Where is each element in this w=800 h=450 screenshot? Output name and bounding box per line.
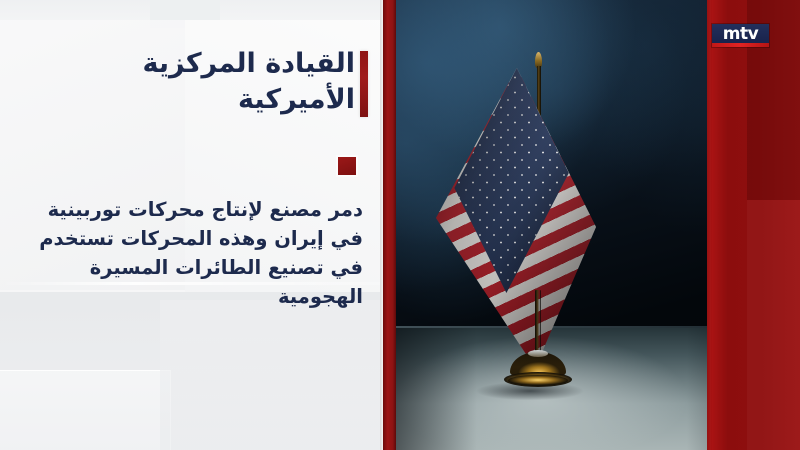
- gold-flag-base: [502, 352, 574, 390]
- broadcast-screen: القيادة المركزية الأميركية دمر مصنع لإنت…: [0, 0, 800, 450]
- headline-accent-bar: [360, 51, 368, 117]
- headline-block: القيادة المركزية الأميركية: [55, 46, 355, 117]
- red-band-edge: [707, 0, 711, 450]
- lower-third-panel: القيادة المركزية الأميركية دمر مصنع لإنت…: [0, 0, 383, 450]
- body-text: دمر مصنع لإنتاج محركات توربينية في إيران…: [23, 196, 363, 311]
- mtv-logo-text: mtv: [723, 26, 758, 43]
- base-ring-inner: [508, 375, 568, 386]
- base-collar: [528, 350, 548, 357]
- red-band-tone: [747, 200, 800, 450]
- panel-plate: [160, 300, 383, 450]
- panel-plate: [0, 370, 171, 450]
- body-block: دمر مصنع لإنتاج محركات توربينية في إيران…: [23, 196, 363, 311]
- headline-text: القيادة المركزية الأميركية: [55, 46, 355, 117]
- mtv-logo-underline: [712, 43, 769, 47]
- american-flag-desk-stand: [488, 52, 708, 397]
- red-vertical-divider: [383, 0, 396, 450]
- red-square-bullet-icon: [338, 157, 356, 175]
